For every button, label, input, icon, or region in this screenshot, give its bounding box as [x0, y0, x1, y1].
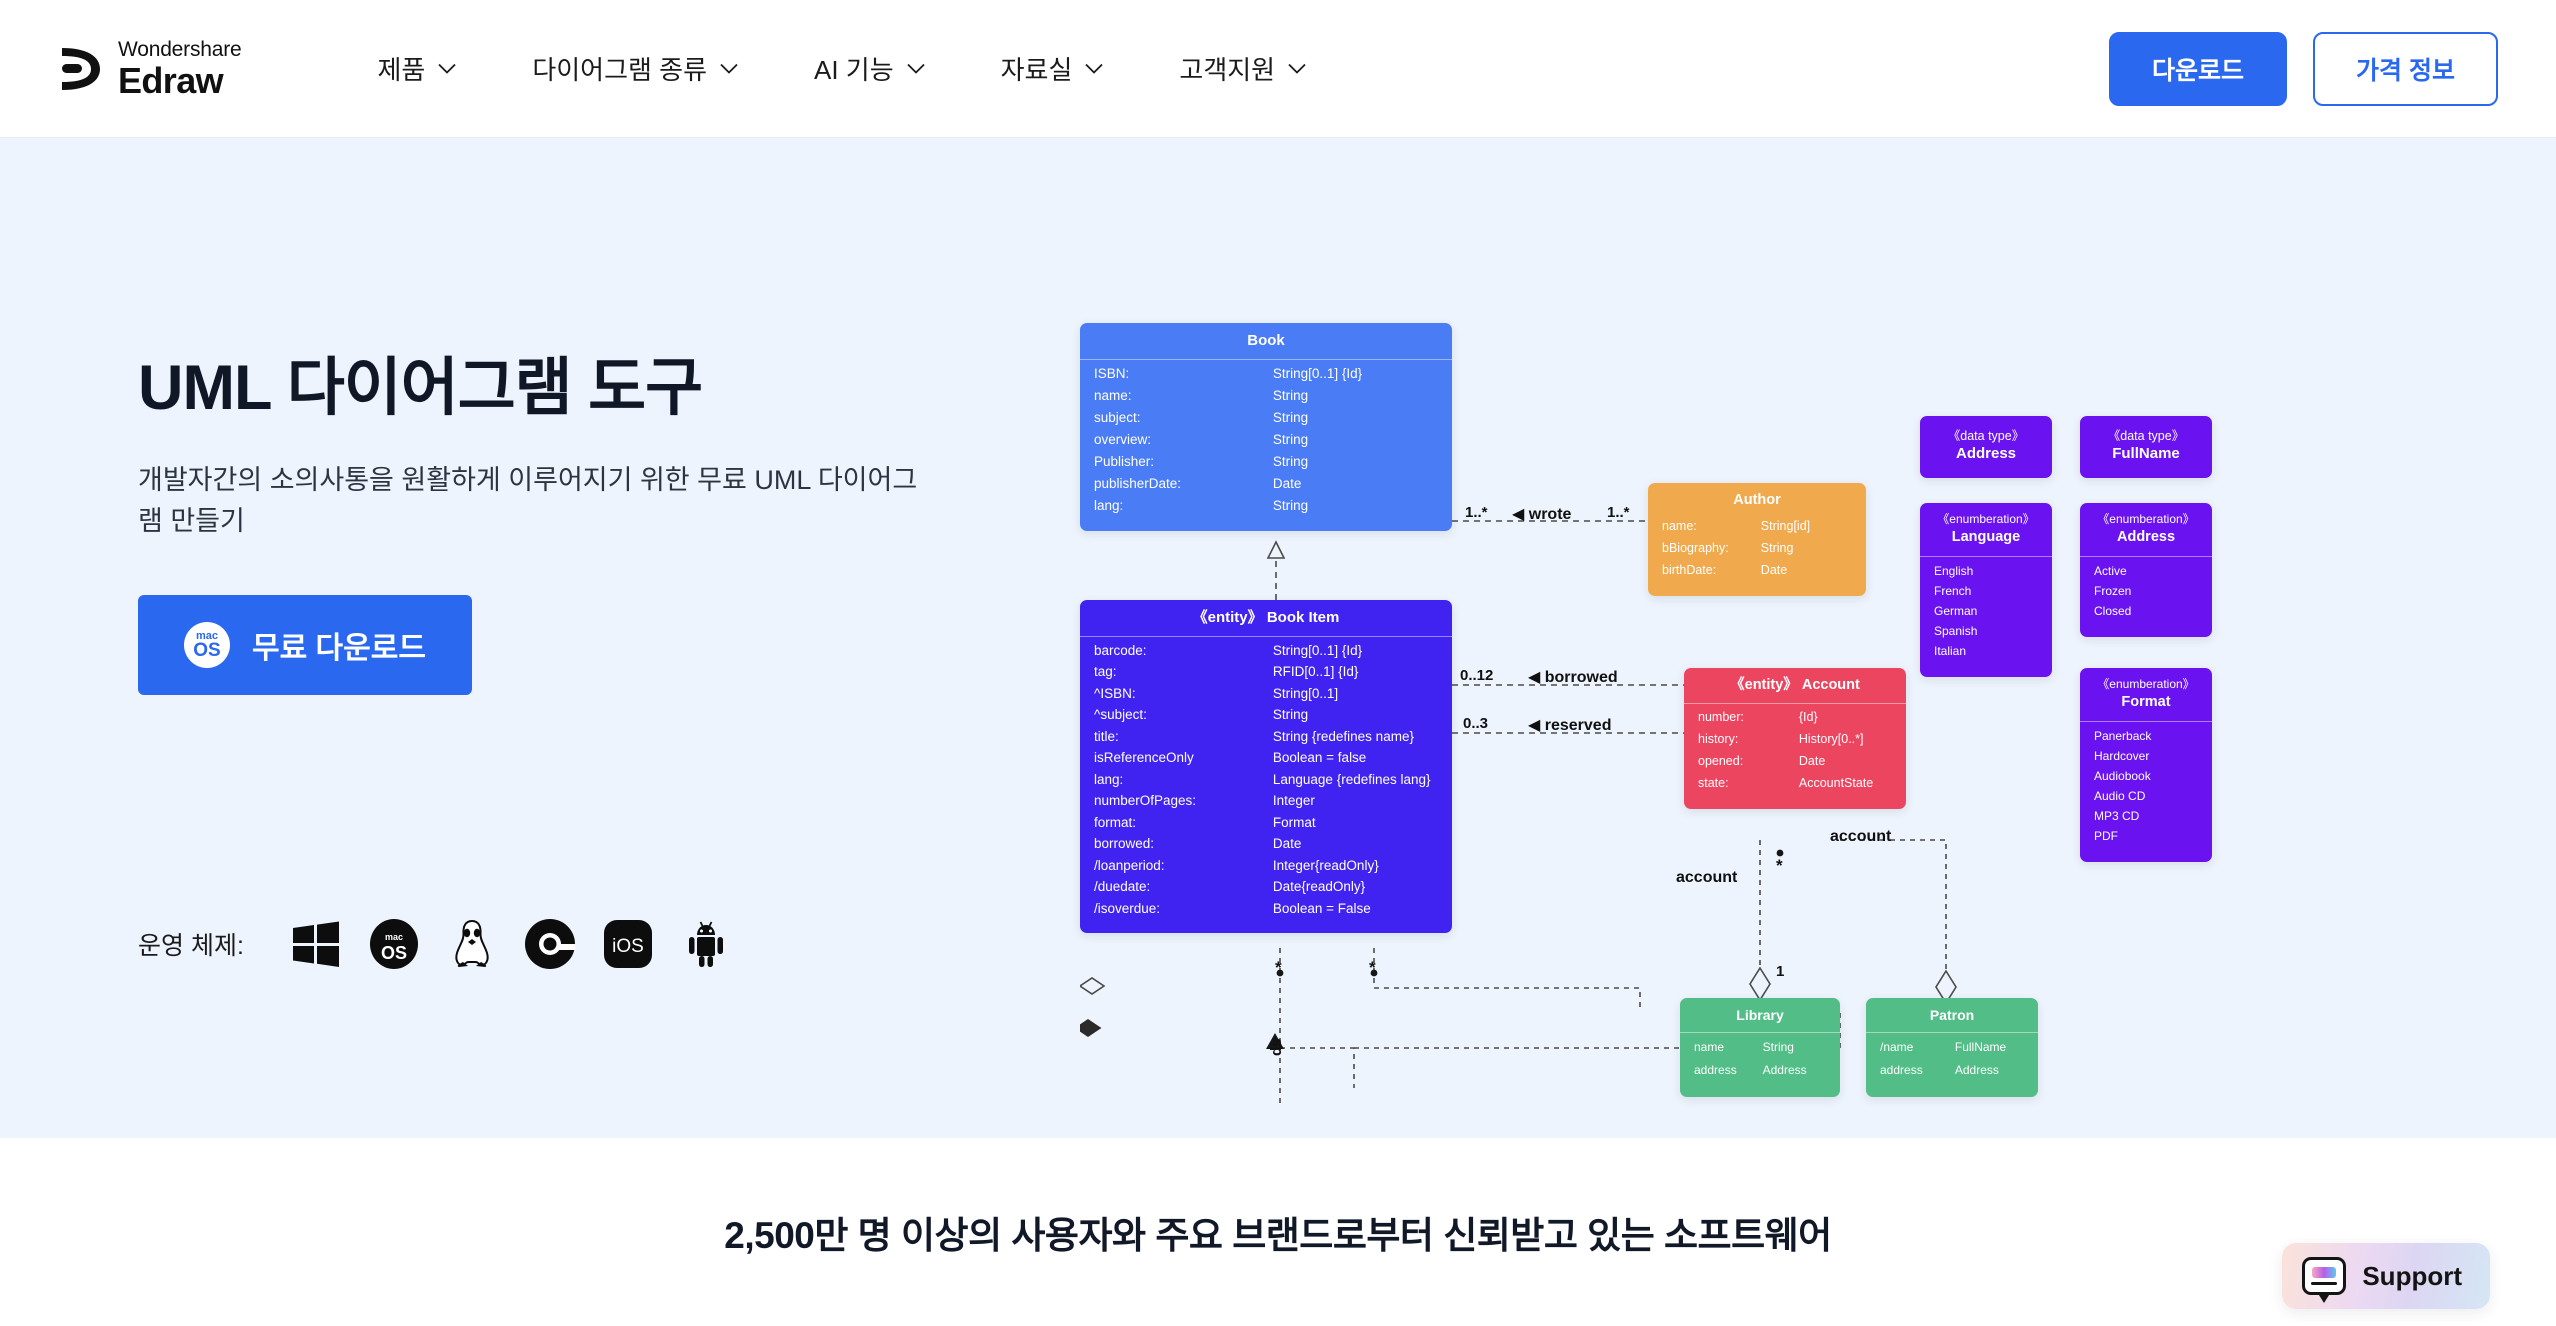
brand-logo[interactable]: Wondershare Edraw: [58, 39, 241, 99]
uml-attr-name: address: [1694, 1064, 1763, 1087]
uml-class-author[interactable]: Author name: String[id] bBiography: Stri…: [1648, 483, 1866, 596]
uml-attr-name: subject:: [1094, 411, 1273, 433]
uml-attribute-row: name: String[id]: [1662, 520, 1852, 542]
uml-attr-type: Language {redefines lang}: [1273, 773, 1438, 795]
uml-attr-type: String: [1273, 708, 1438, 730]
uml-attribute-row: barcode: String[0..1] {Id}: [1094, 644, 1438, 666]
uml-attr-type: Date: [1799, 755, 1892, 777]
uml-datatype-name: Address: [1926, 444, 2046, 464]
uml-attr-name: name:: [1662, 520, 1761, 542]
brand-wondershare: Wondershare: [118, 39, 241, 60]
uml-enum-address[interactable]: 《enumberation》 Address Active Frozen Clo…: [2080, 503, 2212, 637]
brand-edraw: Edraw: [118, 63, 241, 99]
uml-attr-type: FullName: [1955, 1041, 2024, 1064]
nav-label: AI 기능: [814, 50, 894, 87]
uml-class-name: Book Item: [1267, 609, 1340, 626]
uml-datatype-fullname[interactable]: 《data type》 FullName: [2080, 416, 2212, 478]
uml-attribute-row: bBiography: String: [1662, 542, 1852, 564]
uml-datatype-name: FullName: [2086, 444, 2206, 464]
uml-enum-items: Active Frozen Closed: [2080, 557, 2212, 637]
uml-attr-name: number:: [1698, 711, 1799, 733]
uml-attr-type: String[0..1] {Id}: [1273, 367, 1438, 389]
uml-attribute-row: history: History[0..*]: [1698, 733, 1892, 755]
uml-enum-name: Address: [2086, 528, 2206, 547]
uml-attr-type: String: [1761, 542, 1852, 564]
uml-attr-name: isReferenceOnly: [1094, 751, 1273, 773]
android-icon: [680, 918, 732, 970]
uml-attr-type: String: [1273, 411, 1438, 433]
nav-label: 자료실: [1001, 50, 1073, 87]
pricing-button[interactable]: 가격 정보: [2313, 32, 2498, 106]
uml-class-title: 《entity》 Book Item: [1080, 600, 1452, 637]
uml-attribute-row: opened: Date: [1698, 755, 1892, 777]
uml-attr-type: Address: [1955, 1064, 2024, 1087]
uml-enum-item: Closed: [2094, 605, 2198, 625]
uml-enum-title: 《enumberation》 Address: [2080, 503, 2212, 557]
uml-stereotype: 《entity》: [1193, 609, 1263, 626]
uml-attribute-row: /isoverdue: Boolean = False: [1094, 902, 1438, 924]
uml-attribute-row: ISBN: String[0..1] {Id}: [1094, 367, 1438, 389]
uml-attr-name: numberOfPages:: [1094, 794, 1273, 816]
uml-enum-item: Spanish: [1934, 625, 2038, 645]
macos-icon: mac OS: [368, 918, 420, 970]
macos-badge-big: OS: [193, 641, 220, 660]
uml-enum-name: Format: [2086, 693, 2206, 712]
uml-edge-multiplicity-many-account: *: [1776, 856, 1783, 876]
svg-text:OS: OS: [381, 943, 407, 963]
uml-enum-format[interactable]: 《enumberation》 Format Panerback Hardcove…: [2080, 668, 2212, 862]
uml-attr-name: history:: [1698, 733, 1799, 755]
uml-class-attributes: number: {Id} history: History[0..*] open…: [1684, 704, 1906, 809]
uml-attr-type: Date{readOnly}: [1273, 880, 1438, 902]
uml-enum-items: English French German Spanish Italian: [1920, 557, 2052, 677]
nav-item-resources[interactable]: 자료실: [963, 50, 1142, 87]
uml-edge-multiplicity-wrote-right: 1..*: [1607, 504, 1630, 521]
uml-class-book[interactable]: Book ISBN: String[0..1] {Id} name: Strin…: [1080, 323, 1452, 531]
uml-attribute-row: tag: RFID[0..1] {Id}: [1094, 665, 1438, 687]
uml-edge-multiplicity-bookitem-left: *: [1275, 958, 1282, 978]
chevron-down-icon: [1288, 63, 1306, 74]
uml-stereotype: 《data type》: [2086, 428, 2206, 444]
hero-subtitle: 개발자간의 소의사통을 원활하게 이루어지기 위한 무료 UML 다이어그램 만…: [138, 460, 938, 544]
uml-enum-item: Active: [2094, 565, 2198, 585]
uml-attr-name: name: [1694, 1041, 1763, 1064]
uml-edge-label-ds: ds: [1268, 1038, 1285, 1056]
uml-class-book-item[interactable]: 《entity》 Book Item barcode: String[0..1]…: [1080, 600, 1452, 933]
uml-enum-item: Hardcover: [2094, 750, 2198, 770]
windows-icon: [290, 918, 342, 970]
uml-class-attributes: barcode: String[0..1] {Id} tag: RFID[0..…: [1080, 637, 1452, 934]
uml-stereotype: 《entity》: [1730, 677, 1798, 693]
uml-datatype-title: 《data type》 FullName: [2080, 416, 2212, 478]
uml-attribute-row: number: {Id}: [1698, 711, 1892, 733]
uml-stereotype: 《enumberation》: [1926, 512, 2046, 528]
uml-attr-name: publisherDate:: [1094, 477, 1273, 499]
uml-attr-type: History[0..*]: [1799, 733, 1892, 755]
hero-copy: UML 다이어그램 도구 개발자간의 소의사통을 원활하게 이루어지기 위한 무…: [138, 353, 938, 695]
os-support-row: 운영 체제: mac OS iOS: [138, 918, 732, 970]
uml-enum-title: 《enumberation》 Format: [2080, 668, 2212, 722]
uml-attr-name: /duedate:: [1094, 880, 1273, 902]
uml-attr-name: ISBN:: [1094, 367, 1273, 389]
uml-attr-name: title:: [1094, 730, 1273, 752]
uml-attribute-row: /duedate: Date{readOnly}: [1094, 880, 1438, 902]
uml-attribute-row: borrowed: Date: [1094, 837, 1438, 859]
uml-attr-name: Publisher:: [1094, 455, 1273, 477]
uml-edge-label-reserved: ◀ reserved: [1528, 715, 1611, 735]
uml-attribute-row: subject: String: [1094, 411, 1438, 433]
nav-item-ai-features[interactable]: AI 기능: [776, 50, 963, 87]
uml-attr-type: String: [1763, 1041, 1826, 1064]
uml-datatype-title: 《data type》 Address: [1920, 416, 2052, 478]
uml-enum-item: Audio CD: [2094, 790, 2198, 810]
uml-edge-role-account-library: account: [1676, 869, 1737, 887]
uml-attr-type: AccountState: [1799, 777, 1892, 799]
uml-stereotype: 《data type》: [1926, 428, 2046, 444]
site-header: Wondershare Edraw 제품 다이어그램 종류 AI 기능 자료실 …: [0, 0, 2556, 138]
uml-attribute-row: name: String: [1094, 389, 1438, 411]
linux-icon: [446, 918, 498, 970]
uml-attr-type: String {redefines name}: [1273, 730, 1438, 752]
uml-attribute-row: overview: String: [1094, 433, 1438, 455]
uml-attr-name: state:: [1698, 777, 1799, 799]
svg-text:mac: mac: [385, 932, 403, 942]
uml-attribute-row: ^subject: String: [1094, 708, 1438, 730]
chevron-down-icon: [907, 63, 925, 74]
uml-attr-name: opened:: [1698, 755, 1799, 777]
uml-attr-name: address: [1880, 1064, 1955, 1087]
uml-enum-language[interactable]: 《enumberation》 Language English French G…: [1920, 503, 2052, 677]
uml-attr-name: birthDate:: [1662, 564, 1761, 586]
uml-attribute-row: address Address: [1694, 1064, 1826, 1087]
uml-attribute-row: address Address: [1880, 1064, 2024, 1087]
uml-attr-name: borrowed:: [1094, 837, 1273, 859]
uml-attr-type: String[0..1] {Id}: [1273, 644, 1438, 666]
uml-attr-name: ^subject:: [1094, 708, 1273, 730]
trusted-by-band: 2,500만 명 이상의 사용자와 주요 브랜드로부터 신뢰받고 있는 소프트웨…: [0, 1138, 2556, 1326]
uml-attribute-row: Publisher: String: [1094, 455, 1438, 477]
uml-attr-type: Date: [1761, 564, 1852, 586]
uml-class-account[interactable]: 《entity》 Account number: {Id} history: H…: [1684, 668, 1906, 809]
uml-enum-name: Language: [1926, 528, 2046, 547]
uml-attr-type: Integer: [1273, 794, 1438, 816]
uml-attribute-row: numberOfPages: Integer: [1094, 794, 1438, 816]
chat-bubble-gradient: [2312, 1267, 2336, 1278]
uml-attr-name: /loanperiod:: [1094, 859, 1273, 881]
uml-class-title: 《entity》 Account: [1684, 668, 1906, 704]
uml-attribute-row: publisherDate: Date: [1094, 477, 1438, 499]
nav-item-support[interactable]: 고객지원: [1141, 50, 1344, 87]
uml-attr-type: String: [1273, 499, 1438, 521]
chat-bubble-line: [2311, 1282, 2337, 1285]
uml-attribute-row: name String: [1694, 1041, 1826, 1064]
chrome-icon: [524, 918, 576, 970]
uml-enum-item: Frozen: [2094, 585, 2198, 605]
chevron-down-icon: [720, 63, 738, 74]
uml-attribute-row: isReferenceOnly Boolean = false: [1094, 751, 1438, 773]
uml-class-title: Book: [1080, 323, 1452, 360]
uml-attr-name: /isoverdue:: [1094, 902, 1273, 924]
uml-attr-name: /name: [1880, 1041, 1955, 1064]
uml-class-library[interactable]: Library name String address Address: [1680, 998, 1840, 1097]
uml-attr-type: Address: [1763, 1064, 1826, 1087]
uml-attr-type: RFID[0..1] {Id}: [1273, 665, 1438, 687]
page-title: UML 다이어그램 도구: [138, 353, 938, 424]
uml-class-title: Library: [1680, 998, 1840, 1033]
nav-label: 고객지원: [1179, 50, 1275, 87]
svg-text:iOS: iOS: [612, 936, 644, 957]
uml-attribute-row: state: AccountState: [1698, 777, 1892, 799]
nav-item-diagram-types[interactable]: 다이어그램 종류: [494, 50, 776, 87]
uml-attr-type: String: [1273, 433, 1438, 455]
uml-attribute-row: birthDate: Date: [1662, 564, 1852, 586]
uml-attr-name: tag:: [1094, 665, 1273, 687]
uml-attr-type: Boolean = false: [1273, 751, 1438, 773]
uml-attribute-row: lang: Language {redefines lang}: [1094, 773, 1438, 795]
free-download-button[interactable]: mac OS 무료 다운로드: [138, 595, 472, 695]
uml-attr-name: overview:: [1094, 433, 1273, 455]
chat-bubble-icon: [2302, 1257, 2346, 1295]
uml-class-attributes: /name FullName address Address: [1866, 1033, 2038, 1097]
uml-attr-name: ^ISBN:: [1094, 687, 1273, 709]
uml-attribute-row: /loanperiod: Integer{readOnly}: [1094, 859, 1438, 881]
uml-attr-name: barcode:: [1094, 644, 1273, 666]
download-button[interactable]: 다운로드: [2109, 32, 2287, 106]
uml-class-title: Patron: [1866, 998, 2038, 1033]
ios-icon: iOS: [602, 918, 654, 970]
uml-enum-items: Panerback Hardcover Audiobook Audio CD M…: [2080, 722, 2212, 862]
chevron-down-icon: [438, 63, 456, 74]
uml-class-title: Author: [1648, 483, 1866, 517]
uml-edge-label-wrote: ◀ wrote: [1512, 504, 1571, 524]
uml-enum-item: Italian: [1934, 645, 2038, 665]
uml-edge-multiplicity-bookitem-right: *: [1369, 958, 1376, 978]
uml-attr-type: {Id}: [1799, 711, 1892, 733]
uml-edge-multiplicity-wrote-left: 1..*: [1465, 504, 1488, 521]
edraw-logo-icon: [58, 45, 104, 93]
uml-class-name: Account: [1802, 677, 1860, 693]
uml-stereotype: 《enumberation》: [2086, 677, 2206, 693]
uml-enum-item: French: [1934, 585, 2038, 605]
uml-attr-type: String[0..1]: [1273, 687, 1438, 709]
uml-enum-title: 《enumberation》 Language: [1920, 503, 2052, 557]
support-widget[interactable]: Support: [2282, 1243, 2490, 1309]
uml-diagram: Book ISBN: String[0..1] {Id} name: Strin…: [1080, 388, 2420, 1128]
uml-datatype-address[interactable]: 《data type》 Address: [1920, 416, 2052, 478]
macos-icon: mac OS: [184, 622, 230, 668]
uml-attr-type: String: [1273, 389, 1438, 411]
uml-attr-type: Format: [1273, 816, 1438, 838]
uml-enum-item: Audiobook: [2094, 770, 2198, 790]
uml-attr-type: Date: [1273, 837, 1438, 859]
chevron-down-icon: [1085, 63, 1103, 74]
support-label: Support: [2362, 1261, 2462, 1292]
nav-label: 제품: [377, 50, 425, 87]
uml-enum-item: English: [1934, 565, 2038, 585]
hero-section: UML 다이어그램 도구 개발자간의 소의사통을 원활하게 이루어지기 위한 무…: [0, 138, 2556, 1138]
uml-attribute-row: lang: String: [1094, 499, 1438, 521]
uml-attr-name: lang:: [1094, 773, 1273, 795]
uml-attribute-row: format: Format: [1094, 816, 1438, 838]
uml-edge-multiplicity-reserved: 0..3: [1463, 715, 1488, 732]
header-actions: 다운로드 가격 정보: [2109, 32, 2498, 106]
uml-attr-name: name:: [1094, 389, 1273, 411]
main-nav: 제품 다이어그램 종류 AI 기능 자료실 고객지원: [339, 50, 1344, 87]
uml-attr-type: String[id]: [1761, 520, 1852, 542]
uml-attr-type: String: [1273, 455, 1438, 477]
uml-class-attributes: name String address Address: [1680, 1033, 1840, 1097]
os-support-label: 운영 체제:: [138, 926, 244, 962]
uml-class-patron[interactable]: Patron /name FullName address Address: [1866, 998, 2038, 1097]
uml-enum-item: PDF: [2094, 830, 2198, 850]
nav-item-products[interactable]: 제품: [339, 50, 494, 87]
uml-attribute-row: ^ISBN: String[0..1]: [1094, 687, 1438, 709]
trusted-by-title: 2,500만 명 이상의 사용자와 주요 브랜드로부터 신뢰받고 있는 소프트웨…: [724, 1205, 1831, 1259]
uml-attr-name: bBiography:: [1662, 542, 1761, 564]
uml-attr-type: Date: [1273, 477, 1438, 499]
uml-stereotype: 《enumberation》: [2086, 512, 2206, 528]
uml-edge-multiplicity-one-library: 1: [1776, 963, 1784, 980]
nav-label: 다이어그램 종류: [532, 50, 707, 87]
uml-edge-multiplicity-borrowed: 0..12: [1460, 667, 1493, 684]
uml-class-attributes: ISBN: String[0..1] {Id} name: String sub…: [1080, 360, 1452, 531]
uml-enum-item: German: [1934, 605, 2038, 625]
uml-attr-type: Integer{readOnly}: [1273, 859, 1438, 881]
uml-attribute-row: /name FullName: [1880, 1041, 2024, 1064]
uml-attr-type: Boolean = False: [1273, 902, 1438, 924]
uml-enum-item: MP3 CD: [2094, 810, 2198, 830]
uml-attribute-row: title: String {redefines name}: [1094, 730, 1438, 752]
uml-edge-label-borrowed: ◀ borrowed: [1528, 667, 1618, 687]
uml-edge-role-account-patron: account: [1830, 828, 1891, 846]
free-download-label: 무료 다운로드: [252, 623, 426, 667]
uml-attr-name: format:: [1094, 816, 1273, 838]
uml-class-attributes: name: String[id] bBiography: String birt…: [1648, 517, 1866, 596]
uml-attr-name: lang:: [1094, 499, 1273, 521]
uml-enum-item: Panerback: [2094, 730, 2198, 750]
